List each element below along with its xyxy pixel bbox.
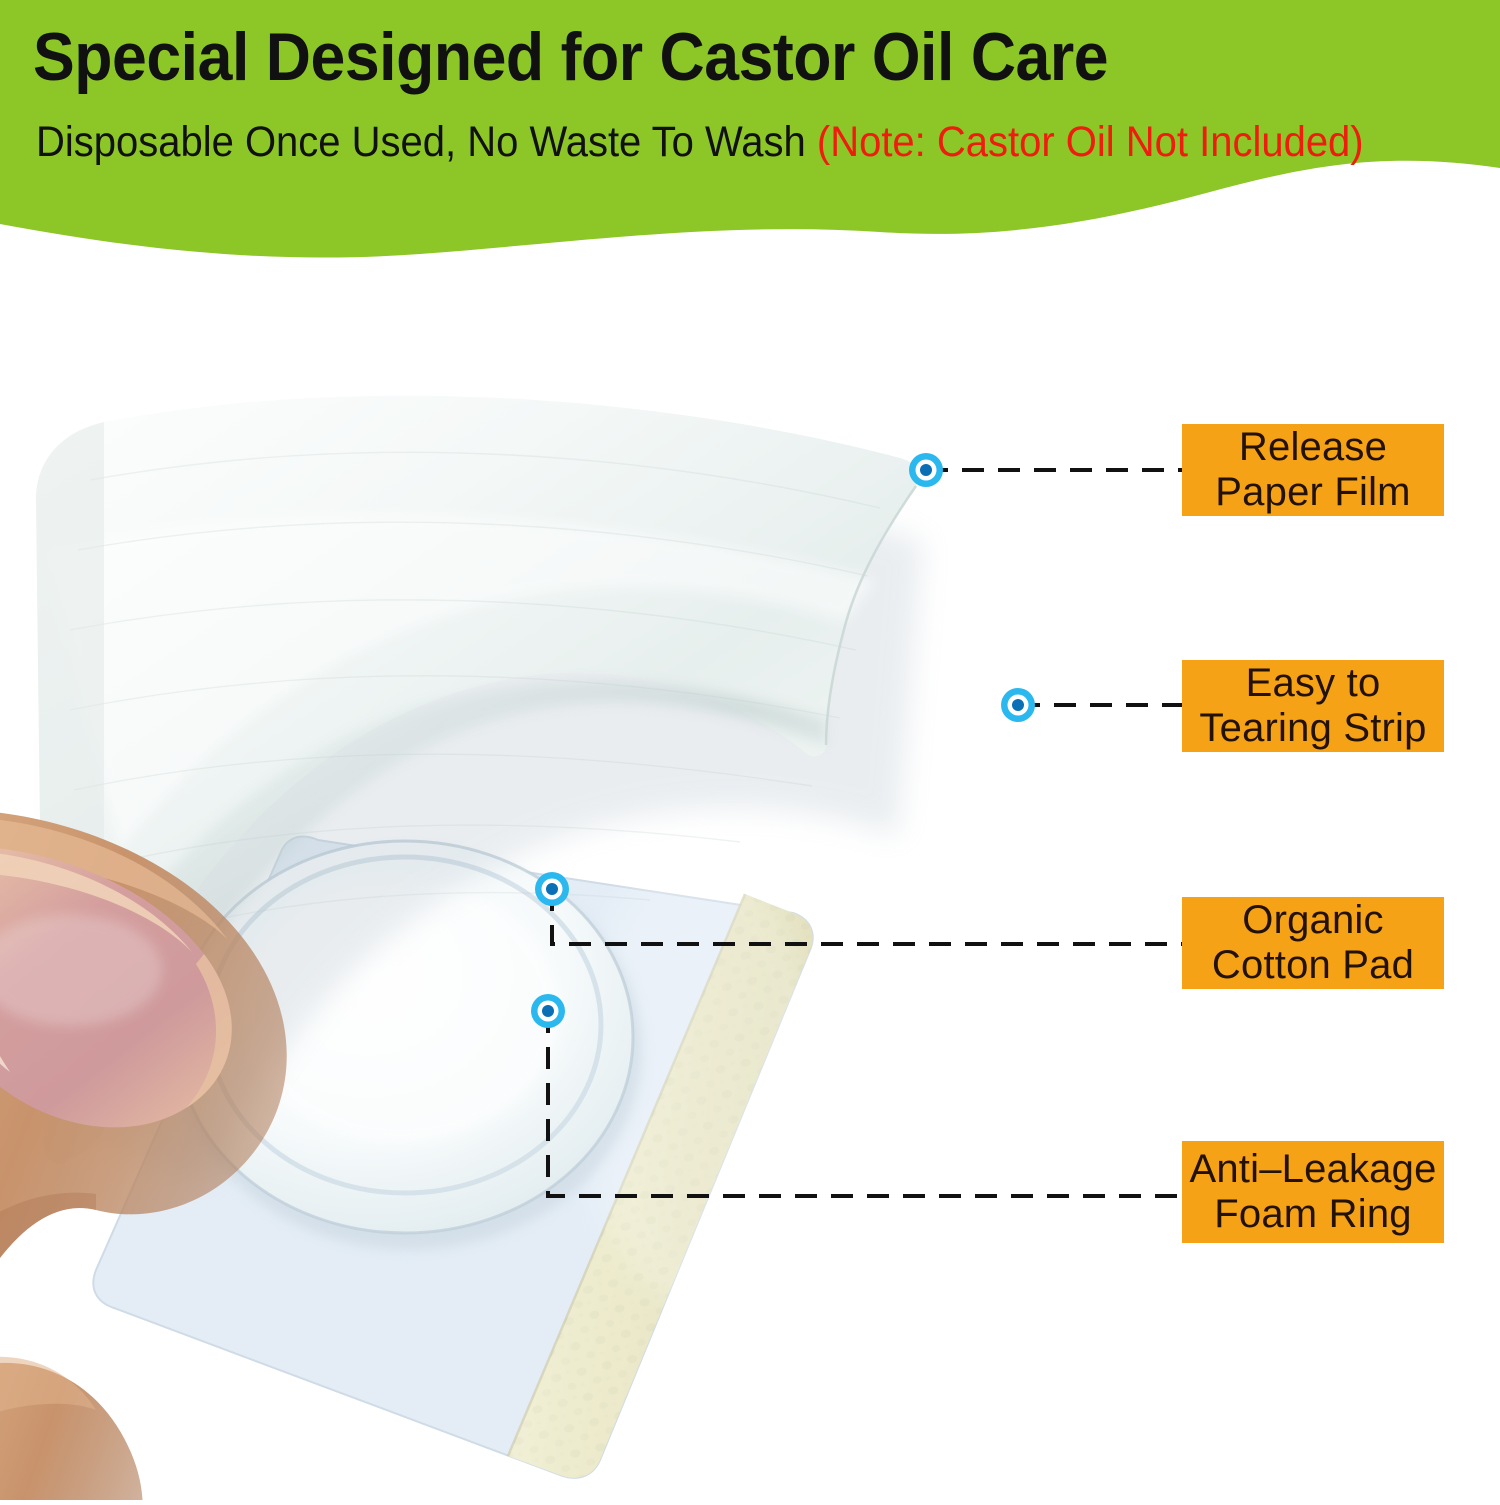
callout-line-2: Cotton Pad bbox=[1212, 943, 1414, 988]
subtitle-main: Disposable Once Used, No Waste To Wash bbox=[36, 118, 817, 166]
callout-line-1: Organic bbox=[1242, 898, 1383, 943]
callout-line-2: Paper Film bbox=[1215, 470, 1410, 515]
product-illustration bbox=[0, 250, 1160, 1500]
callout-label-anti-leakage-foam-ring: Anti–Leakage Foam Ring bbox=[1182, 1141, 1444, 1243]
callout-line-2: Tearing Strip bbox=[1199, 706, 1426, 751]
page-title: Special Designed for Castor Oil Care bbox=[33, 18, 1108, 96]
callout-label-easy-to-tearing-strip: Easy to Tearing Strip bbox=[1182, 660, 1444, 752]
callout-label-organic-cotton-pad: Organic Cotton Pad bbox=[1182, 897, 1444, 989]
infographic-canvas: Special Designed for Castor Oil Care Dis… bbox=[0, 0, 1500, 1500]
product-photo bbox=[0, 250, 1160, 1500]
callout-line-1: Easy to bbox=[1246, 661, 1381, 706]
page-subtitle: Disposable Once Used, No Waste To Wash (… bbox=[36, 118, 1364, 167]
callout-line-1: Release bbox=[1239, 425, 1387, 470]
callout-line-2: Foam Ring bbox=[1214, 1192, 1411, 1237]
callout-label-release-paper-film: Release Paper Film bbox=[1182, 424, 1444, 516]
callout-line-1: Anti–Leakage bbox=[1189, 1147, 1436, 1192]
header-banner: Special Designed for Castor Oil Care Dis… bbox=[0, 0, 1500, 270]
subtitle-note: (Note: Castor Oil Not Included) bbox=[817, 118, 1364, 166]
